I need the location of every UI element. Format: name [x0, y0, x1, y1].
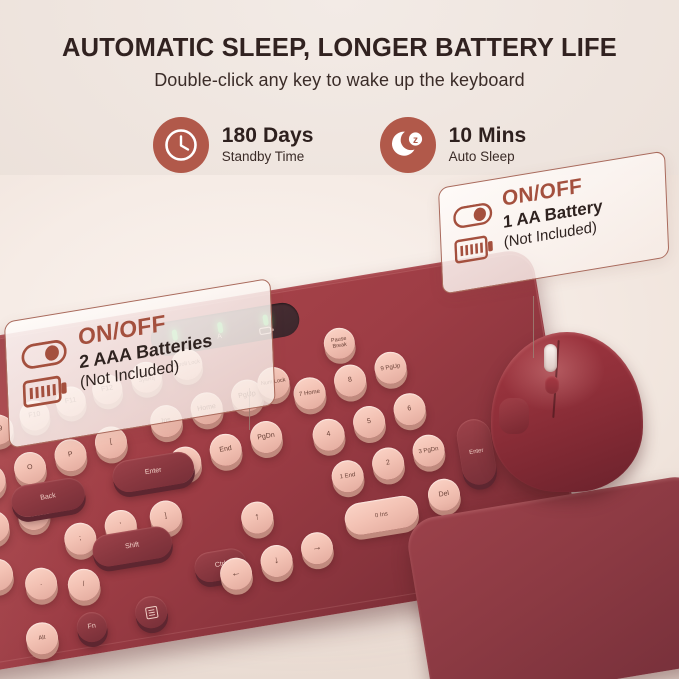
mouse-scroll-wheel[interactable] [544, 344, 557, 372]
mouse-dpi-button[interactable] [545, 376, 559, 394]
mouse-product [487, 330, 649, 498]
page-subtitle: Double-click any key to wake up the keyb… [0, 70, 679, 91]
badge-value: 10 Mins [449, 125, 527, 147]
badge-value: 180 Days [222, 125, 314, 147]
badge-standby-time: 180 Days Standby Time [153, 117, 314, 173]
clock-icon [153, 117, 209, 173]
mouse-side-button[interactable] [499, 398, 529, 434]
badge-label: Auto Sleep [449, 150, 527, 164]
callout-mouse-icons [453, 201, 495, 265]
callout-keyboard-icons [21, 338, 69, 410]
menu-icon [144, 605, 159, 620]
mouse-body [491, 332, 643, 492]
product-feature-image: AUTOMATIC SLEEP, LONGER BATTERY LIFE Dou… [0, 0, 679, 679]
moon-z-icon: z [380, 117, 436, 173]
page-title: AUTOMATIC SLEEP, LONGER BATTERY LIFE [0, 34, 679, 63]
badge-label: Standby Time [222, 150, 314, 164]
svg-text:z: z [413, 135, 418, 146]
leader-line-mouse [533, 296, 534, 358]
badge-auto-sleep: z 10 Mins Auto Sleep [380, 117, 527, 173]
